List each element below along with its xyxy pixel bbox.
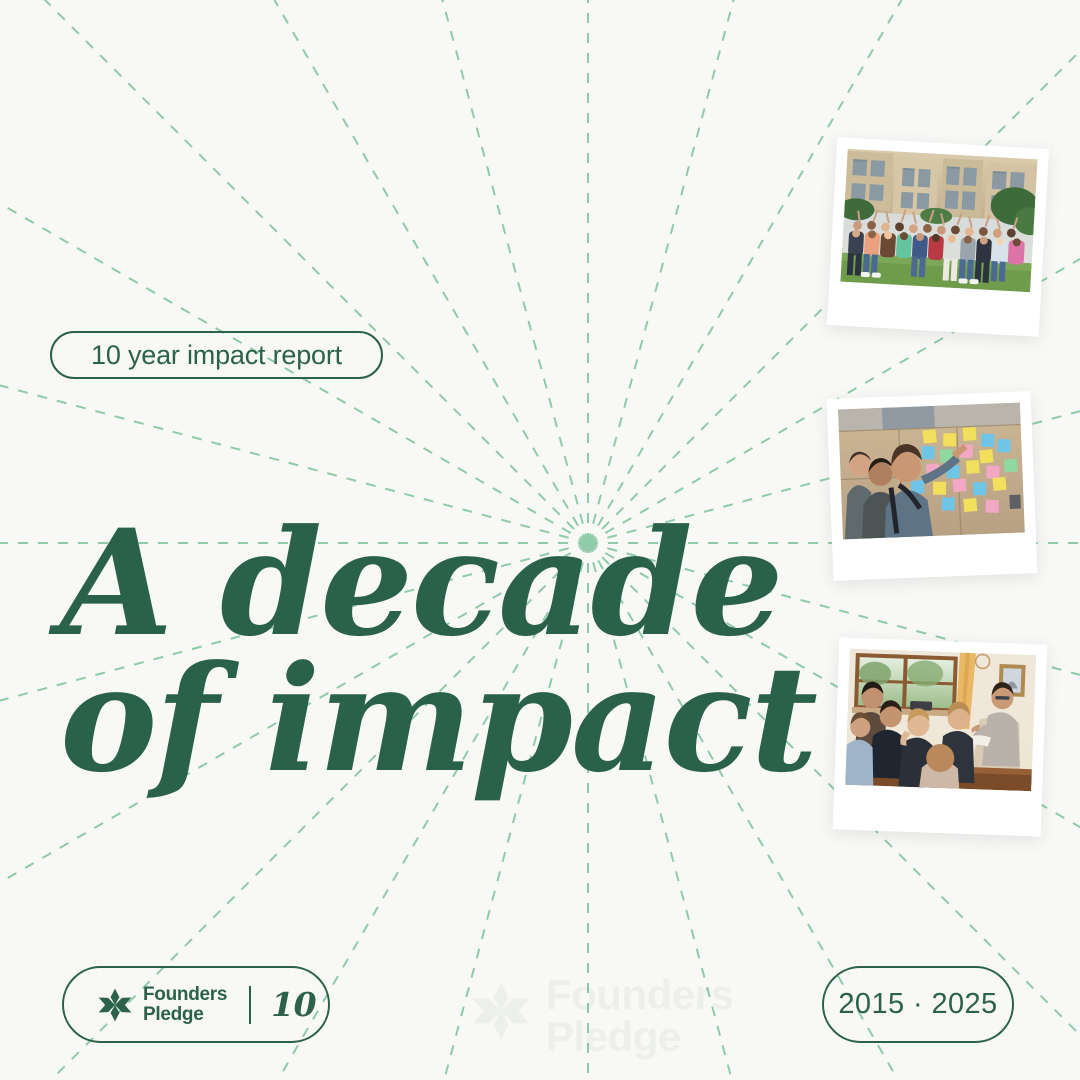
starburst-ray	[0, 0, 588, 543]
photo-image-group-photo-outside-manor	[840, 149, 1037, 292]
founders-pledge-logo-badge[interactable]: Founders Pledge 10	[62, 966, 330, 1043]
eyebrow-label: 10 year impact report	[91, 340, 342, 371]
starburst-ray	[0, 0, 588, 543]
poster-canvas: Founders Pledge 10 year impact report A …	[0, 0, 1080, 1080]
founders-pledge-watermark: Founders Pledge	[470, 968, 730, 1064]
starburst-ray	[0, 0, 588, 543]
photo-image-sticky-notes-workshop	[838, 403, 1025, 540]
starburst-ray	[0, 103, 588, 543]
years-badge: 2015 · 2025	[822, 966, 1014, 1043]
watermark-asterisk-icon	[470, 980, 532, 1042]
watermark-wordmark: Founders Pledge	[546, 974, 733, 1057]
logo-badge-divider	[249, 986, 251, 1024]
photo-card-sticky-notes-workshop	[827, 391, 1038, 581]
years-label: 2015 · 2025	[838, 988, 997, 1021]
photo-card-living-room-discussion	[833, 637, 1048, 836]
founders-pledge-asterisk-icon	[98, 988, 132, 1022]
photo-image-living-room-discussion	[845, 649, 1036, 791]
photo-card-group-photo-outside-manor	[827, 137, 1049, 337]
founders-pledge-wordmark: Founders Pledge	[143, 985, 227, 1024]
anniversary-number: 10	[271, 985, 316, 1024]
starburst-ray	[148, 0, 588, 543]
page-title: A decade of impact	[60, 516, 840, 788]
eyebrow-pill: 10 year impact report	[50, 331, 383, 379]
